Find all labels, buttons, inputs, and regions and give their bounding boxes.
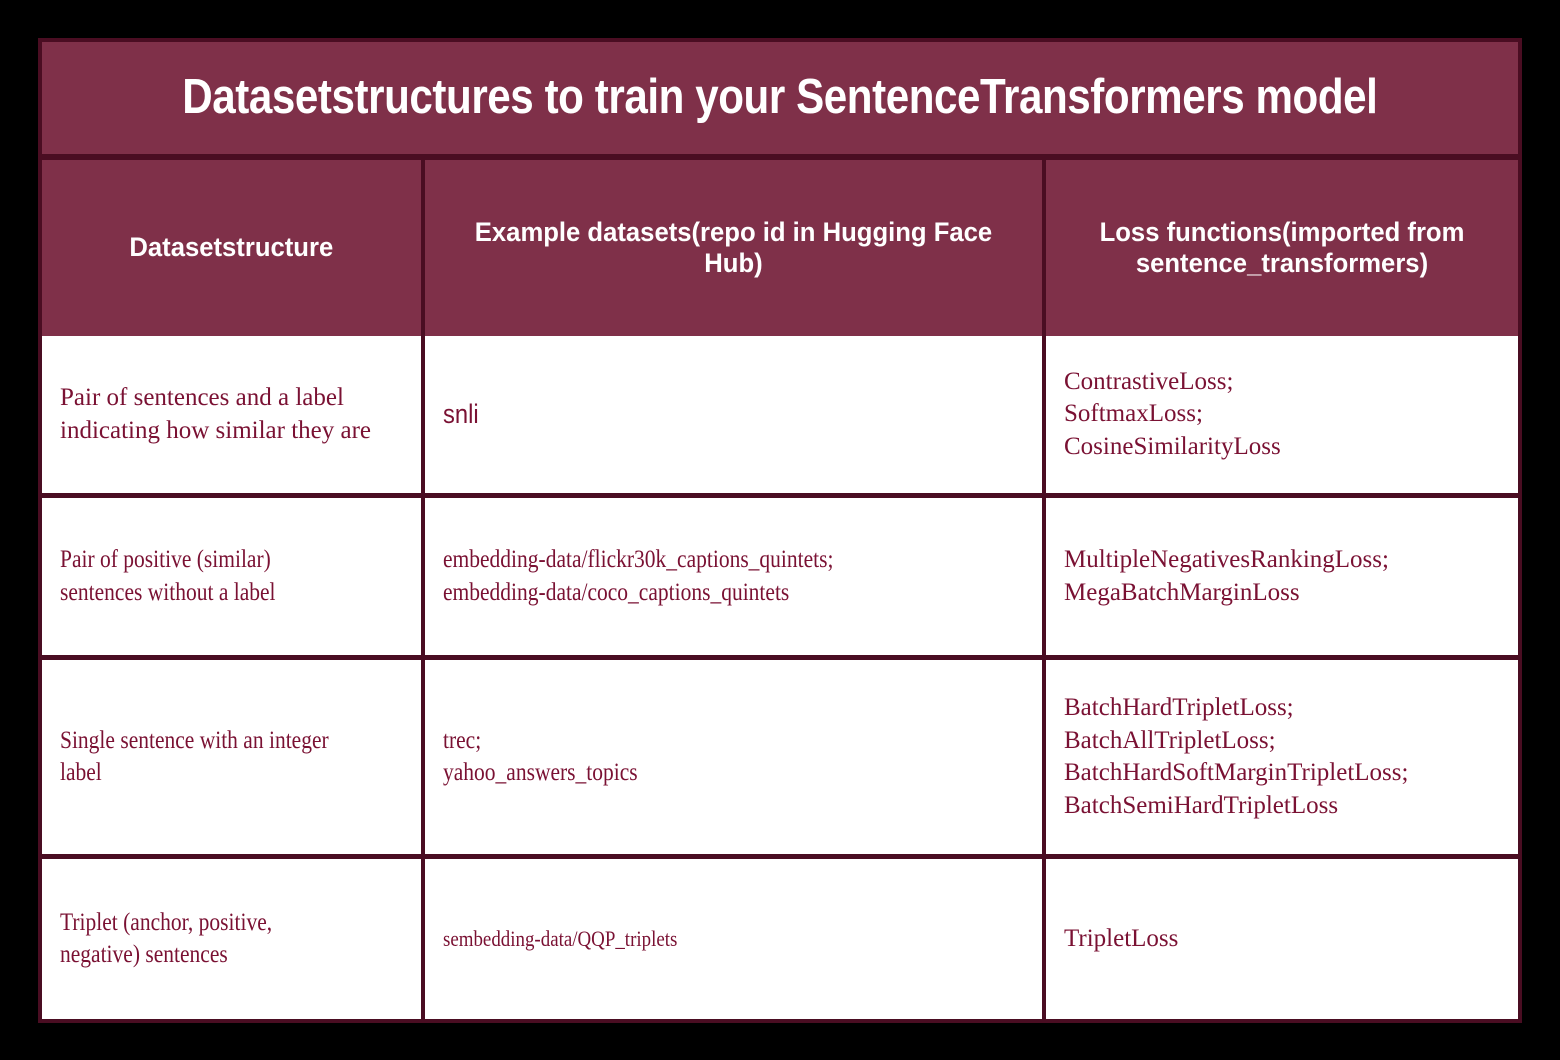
page-root: Datasetstructures to train your Sentence… [0, 0, 1560, 1060]
cell-losses-text: MultipleNegativesRankingLoss; MegaBatchM… [1064, 544, 1389, 609]
table-row: Triplet (anchor, positive, negative) sen… [42, 859, 1518, 1019]
cell-losses-text: TripletLoss [1064, 923, 1178, 956]
cell-losses-text: BatchHardTripletLoss; BatchAllTripletLos… [1064, 692, 1408, 822]
cell-datasets-text: embedding-data/flickr30k_captions_quinte… [443, 544, 943, 609]
cell-losses: ContrastiveLoss; SoftmaxLoss; CosineSimi… [1046, 336, 1518, 493]
column-header-loss-functions-label: Loss functions(imported from sentence_tr… [1073, 217, 1491, 280]
table-title-band: Datasetstructures to train your Sentence… [42, 42, 1518, 160]
cell-losses: BatchHardTripletLoss; BatchAllTripletLos… [1046, 660, 1518, 854]
cell-structure-text: Triplet (anchor, positive, negative) sen… [60, 907, 355, 972]
column-header-example-datasets-label: Example datasets(repo id in Hugging Face… [456, 217, 1012, 280]
column-header-dataset-structure-label: Datasetstructure [130, 232, 334, 263]
cell-structure: Pair of positive (similar) sentences wit… [42, 498, 421, 655]
cell-structure: Triplet (anchor, positive, negative) sen… [42, 859, 421, 1019]
cell-losses: TripletLoss [1046, 859, 1518, 1019]
table-row: Pair of sentences and a label indicating… [42, 336, 1518, 493]
cell-datasets: snli [425, 336, 1042, 493]
column-header-example-datasets: Example datasets(repo id in Hugging Face… [425, 160, 1042, 336]
cell-structure-text: Single sentence with an integer label [60, 725, 355, 790]
table-row: Single sentence with an integer label tr… [42, 660, 1518, 854]
cell-datasets-text: snli [443, 397, 479, 432]
column-header-dataset-structure: Datasetstructure [42, 160, 421, 336]
page-title: Datasetstructures to train your Sentence… [182, 72, 1377, 123]
cell-structure-text: Pair of sentences and a label indicating… [60, 382, 403, 447]
cell-structure: Single sentence with an integer label [42, 660, 421, 854]
dataset-structures-table: Datasetstructures to train your Sentence… [38, 38, 1522, 1023]
cell-losses: MultipleNegativesRankingLoss; MegaBatchM… [1046, 498, 1518, 655]
table-body: Pair of sentences and a label indicating… [42, 336, 1518, 1019]
cell-datasets-text: trec; yahoo_answers_topics [443, 725, 943, 790]
column-header-loss-functions: Loss functions(imported from sentence_tr… [1046, 160, 1518, 336]
table-row: Pair of positive (similar) sentences wit… [42, 498, 1518, 655]
cell-datasets: sembedding-data/QQP_triplets [425, 859, 1042, 1019]
cell-structure-text: Pair of positive (similar) sentences wit… [60, 544, 355, 609]
cell-datasets-text: sembedding-data/QQP_triplets [443, 925, 943, 954]
table-header-row: Datasetstructure Example datasets(repo i… [42, 160, 1518, 336]
cell-structure: Pair of sentences and a label indicating… [42, 336, 421, 493]
cell-datasets: embedding-data/flickr30k_captions_quinte… [425, 498, 1042, 655]
cell-losses-text: ContrastiveLoss; SoftmaxLoss; CosineSimi… [1064, 366, 1281, 464]
cell-datasets: trec; yahoo_answers_topics [425, 660, 1042, 854]
